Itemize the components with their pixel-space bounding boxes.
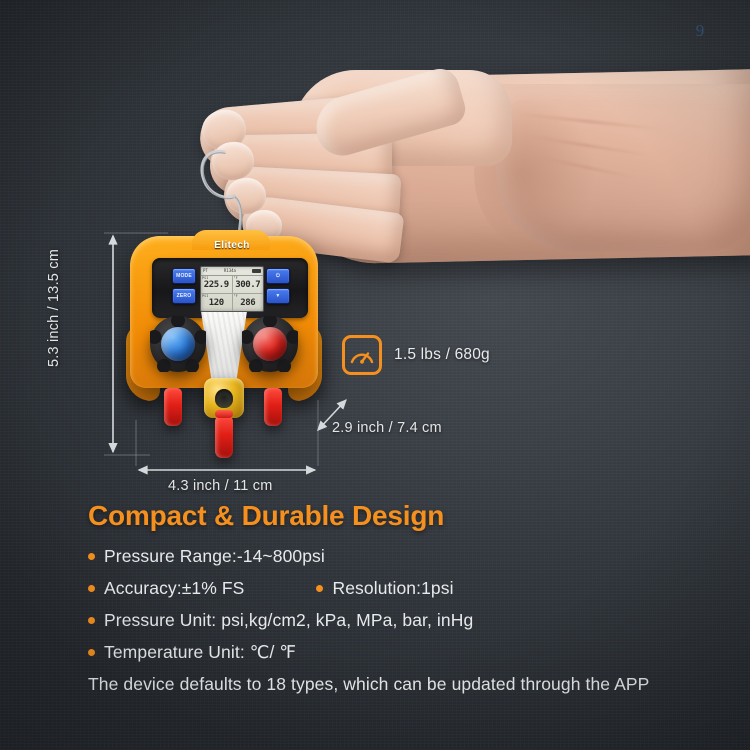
bullet-dot-icon — [88, 553, 95, 560]
high-side-valve-knob[interactable] — [242, 316, 298, 372]
lcd-cell-pressure-low: PSI 225.9 — [201, 276, 232, 293]
weight-value: 1.5 lbs / 680g — [394, 346, 490, 364]
lcd-cell-pressure-high: °F 300.7 — [232, 276, 264, 293]
lcd-status-left: PT — [203, 267, 208, 275]
battery-icon — [252, 269, 261, 273]
spec-temperature-unit: Temperature Unit: ℃/ ℉ — [104, 642, 296, 663]
lcd-cell-temp-high: °F 286 — [232, 294, 264, 311]
mode-button[interactable]: MODE — [172, 268, 196, 284]
low-side-port-cap — [164, 388, 182, 426]
lcd-value: 300.7 — [235, 280, 260, 290]
spec-row-pressure-range: Pressure Range:-14~800psi — [88, 546, 728, 567]
lcd-unit-label: PSI — [202, 294, 208, 298]
weight-badge: 1.5 lbs / 680g — [342, 335, 490, 375]
bullet-dot-icon — [88, 649, 95, 656]
watermark: 9 — [690, 18, 710, 44]
spec-pressure-range: Pressure Range:-14~800psi — [104, 546, 325, 567]
product-marketing-image: 9 Elitech MODE Z — [0, 0, 750, 750]
control-face-plate: MODE ZERO ⏻ ▼ PT R134a PSI 225.9 — [152, 258, 308, 318]
lcd-display: PT R134a PSI 225.9 °F 300.7 — [200, 266, 264, 312]
bullet-dot-icon — [88, 585, 95, 592]
list-item: Pressure Range:-14~800psi — [88, 546, 325, 567]
spec-resolution: Resolution:1psi — [332, 578, 453, 599]
bullet-dot-icon — [316, 585, 323, 592]
spec-copy-block: Compact & Durable Design Pressure Range:… — [88, 500, 728, 695]
spec-pressure-unit: Pressure Unit: psi,kg/cm2, kPa, MPa, bar… — [104, 610, 473, 631]
lcd-unit-label: °F — [234, 276, 238, 280]
footnote-text: The device defaults to 18 types, which c… — [88, 674, 728, 695]
lcd-cell-temp-low: PSI 120 — [201, 294, 232, 311]
bullet-dot-icon — [88, 617, 95, 624]
lcd-value: 286 — [240, 298, 255, 308]
lcd-value: 120 — [209, 298, 224, 308]
dimension-depth-label: 2.9 inch / 7.4 cm — [332, 420, 442, 436]
lcd-status-bar: PT R134a — [201, 267, 263, 276]
spec-row-temperature-unit: Temperature Unit: ℃/ ℉ — [88, 642, 728, 663]
knob-cap-red — [253, 327, 287, 361]
lcd-value: 225.9 — [204, 280, 229, 290]
page-title: Compact & Durable Design — [88, 500, 728, 532]
lcd-unit-label: °F — [234, 294, 238, 298]
knob-cap-blue — [161, 327, 195, 361]
lcd-row-upper: PSI 225.9 °F 300.7 — [201, 276, 263, 294]
list-item: Accuracy:±1% FS — [88, 578, 244, 599]
spec-accuracy: Accuracy:±1% FS — [104, 578, 244, 599]
lcd-row-lower: PSI 120 °F 286 — [201, 294, 263, 311]
low-side-valve-knob[interactable] — [150, 316, 206, 372]
lcd-unit-label: PSI — [202, 276, 208, 280]
sight-glass-eye — [215, 389, 233, 408]
dimension-width-label: 4.3 inch / 11 cm — [168, 478, 272, 494]
lcd-refrigerant-type: R134a — [224, 267, 236, 275]
dimension-height-label: 5.3 inch / 13.5 cm — [46, 228, 62, 388]
list-item: Temperature Unit: ℃/ ℉ — [88, 642, 296, 663]
spec-row-accuracy-resolution: Accuracy:±1% FS Resolution:1psi — [88, 578, 728, 599]
zero-button[interactable]: ZERO — [172, 288, 196, 304]
down-button[interactable]: ▼ — [266, 288, 290, 304]
list-item: Pressure Unit: psi,kg/cm2, kPa, MPa, bar… — [88, 610, 473, 631]
list-item: Resolution:1psi — [316, 578, 453, 599]
brand-logo: Elitech — [182, 240, 282, 253]
gauge-icon — [342, 335, 382, 375]
power-button[interactable]: ⏻ — [266, 268, 290, 284]
digital-manifold-gauge: Elitech MODE ZERO ⏻ ▼ PT R134a PSI 225 — [124, 228, 324, 460]
center-port-cap — [215, 416, 233, 458]
high-side-port-cap — [264, 388, 282, 426]
spec-row-pressure-unit: Pressure Unit: psi,kg/cm2, kPa, MPa, bar… — [88, 610, 728, 631]
